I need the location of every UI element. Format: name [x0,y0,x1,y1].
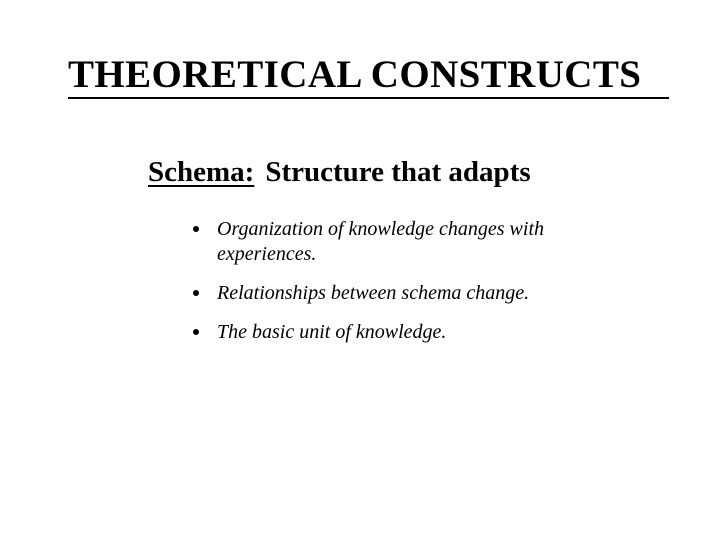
list-item-label: Relationships between schema change. [217,281,630,306]
subtitle-definition: Structure that adapts [265,156,530,188]
bullet-list: Organization of knowledge changes with e… [190,217,630,345]
bullet-dot-icon [193,329,199,335]
bullet-dot-icon [193,226,199,232]
subtitle-line: Schema:Structure that adapts [148,155,668,189]
title-block: THEORETICAL CONSTRUCTS [68,54,669,99]
list-item-label: The basic unit of knowledge. [217,320,630,345]
page-title: THEORETICAL CONSTRUCTS [68,54,669,96]
list-item: Relationships between schema change. [190,281,630,306]
subtitle-block: Schema:Structure that adapts [148,155,668,189]
title-underline-rule [68,97,669,99]
bullet-dot-icon [193,290,199,296]
slide-canvas: THEORETICAL CONSTRUCTS Schema:Structure … [0,0,719,539]
list-item-label: Organization of knowledge changes with e… [217,217,627,267]
list-item: The basic unit of knowledge. [190,320,630,345]
subtitle-term: Schema: [148,156,254,188]
list-item: Organization of knowledge changes with e… [190,217,630,267]
